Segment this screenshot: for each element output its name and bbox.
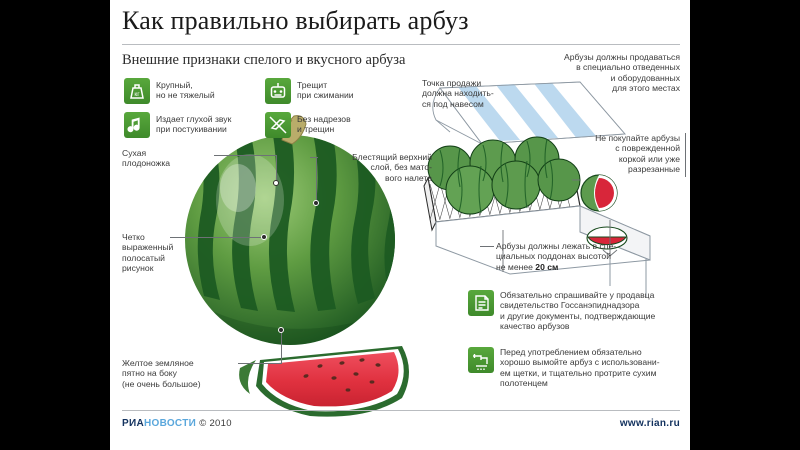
infographic-sheet: Как правильно выбирать арбуз Внешние при… — [110, 0, 690, 450]
footer-divider — [122, 410, 680, 411]
watermelon-slice-illustration — [239, 346, 409, 417]
point-yellow-spot — [278, 327, 284, 333]
squeeze-press-icon — [265, 78, 291, 104]
callout-pallets-height: 20 см — [535, 262, 558, 272]
page-title: Как правильно выбирать арбуз — [122, 6, 469, 36]
leader-no-damaged — [685, 133, 686, 177]
leader-pallets — [480, 246, 494, 247]
leader-stem — [214, 155, 276, 156]
site-url[interactable]: www.rian.ru — [620, 418, 680, 429]
leader-yellow-v — [281, 330, 282, 364]
point-stem — [273, 180, 279, 186]
copyright-text: © 2010 — [199, 418, 232, 429]
point-shine — [313, 200, 319, 206]
leader-yellow-h — [238, 363, 282, 364]
rule-text-certificate: Обязательно спрашивайте у продавца свиде… — [500, 290, 696, 332]
sign-label-no-cuts: Без надрезов и трещин — [297, 114, 351, 135]
no-knife-cut-icon — [265, 112, 291, 138]
leader-stripes — [170, 237, 264, 238]
brand-logo: РИАНОВОСТИ © 2010 — [122, 418, 232, 429]
sign-label-crackles: Трещит при сжимании — [297, 80, 354, 101]
callout-stem: Сухая плодоножка — [122, 148, 212, 169]
leader-shine-h — [310, 157, 318, 158]
callout-pallets: Арбузы должны лежать в спе- циальных под… — [496, 241, 676, 272]
callout-shine: Блестящий верхний слой, без мато- вого н… — [322, 152, 432, 183]
leader-shine-v — [316, 157, 317, 203]
infographic-canvas: Как правильно выбирать арбуз Внешние при… — [0, 0, 800, 450]
rule-text-wash: Перед употреблением обязательно хорошо в… — [500, 347, 696, 389]
music-note-icon — [124, 112, 150, 138]
callout-no-damaged: Не покупайте арбузы с поврежденной корко… — [558, 133, 680, 175]
callout-awning: Точка продажи должна находить- ся под на… — [422, 78, 532, 109]
weight-kg-label: кг — [134, 91, 140, 98]
brand-logo-light: НОВОСТИ — [144, 418, 196, 429]
header-divider — [122, 44, 680, 45]
point-stripes — [261, 234, 267, 240]
leader-stem-v — [276, 155, 277, 183]
weight-kg-icon: кг — [124, 78, 150, 104]
brand-logo-dark: РИА — [122, 418, 144, 429]
document-certificate-icon — [468, 290, 494, 316]
sign-label-large: Крупный, но не тяжелый — [156, 80, 215, 101]
faucet-wash-icon — [468, 347, 494, 373]
sign-label-sound: Издает глухой звук при постукивании — [156, 114, 231, 135]
callout-stripes: Четко выраженный полосатый рисунок — [122, 232, 202, 274]
callout-yellow-spot: Желтое земляное пятно на боку (не очень … — [122, 358, 247, 389]
callout-special-places: Арбузы должны продаваться в специально о… — [518, 52, 680, 94]
